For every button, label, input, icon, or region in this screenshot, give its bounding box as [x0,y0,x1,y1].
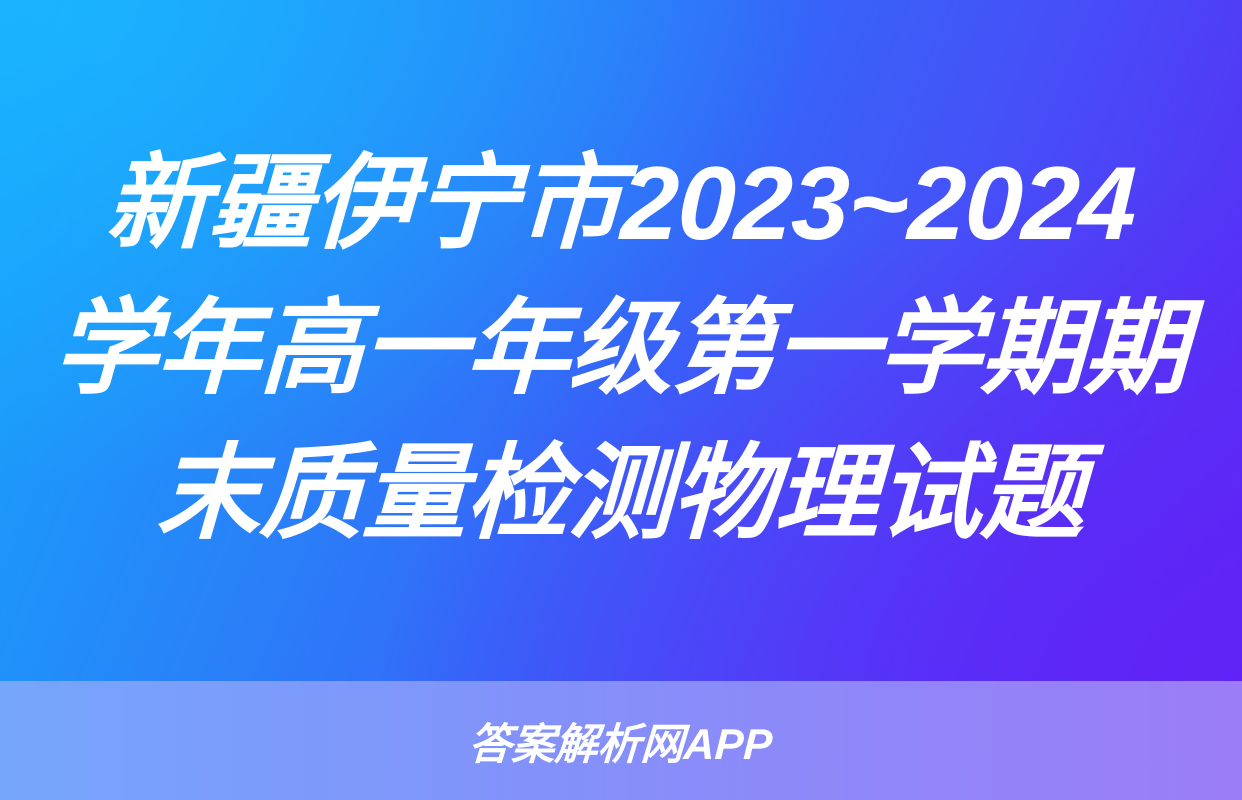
watermark-label: 答案解析网APP [468,710,775,772]
exam-title-line-1: 新疆伊宁市2023~2024 [104,132,1139,277]
exam-title-line-2: 学年高一年级第一学期期 [52,277,1190,422]
exam-title-line-3: 末质量检测物理试题 [155,422,1087,567]
exam-title-block: 新疆伊宁市2023~2024 学年高一年级第一学期期 末质量检测物理试题 [0,0,1242,681]
watermark-band: 答案解析网APP [0,681,1242,800]
exam-cover-banner: 新疆伊宁市2023~2024 学年高一年级第一学期期 末质量检测物理试题 答案解… [0,0,1242,800]
